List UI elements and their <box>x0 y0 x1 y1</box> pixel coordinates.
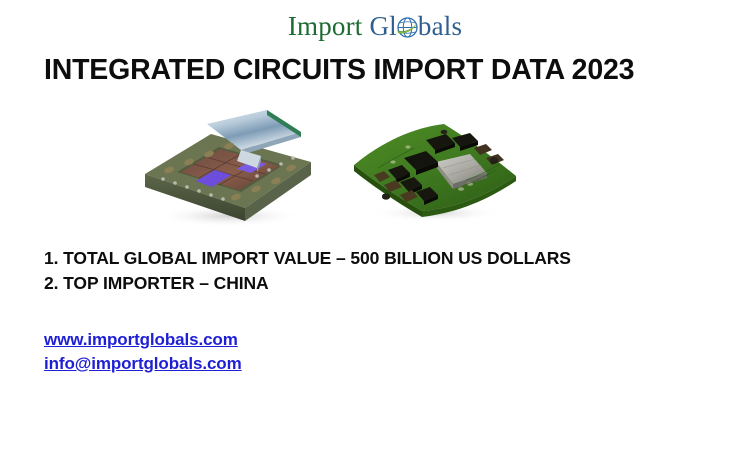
integrated-circuit-package-image <box>133 108 323 230</box>
brand-logo: Import Gl bals <box>0 13 750 40</box>
website-link[interactable]: www.importglobals.com <box>44 328 242 352</box>
brand-logo-word-suffix: bals <box>418 11 462 41</box>
printed-circuit-board-image <box>348 118 523 223</box>
slide-canvas: Import Gl bals INTEGRATED CIRCUITS IMPOR… <box>0 0 750 450</box>
page-title: INTEGRATED CIRCUITS IMPORT DATA 2023 <box>44 54 634 87</box>
contact-links: www.importglobals.com info@importglobals… <box>44 328 242 376</box>
key-facts-list: 1. TOTAL GLOBAL IMPORT VALUE – 500 BILLI… <box>44 246 571 296</box>
globe-icon <box>397 17 418 38</box>
email-link[interactable]: info@importglobals.com <box>44 352 242 376</box>
brand-logo-word-prefix: Gl <box>369 11 396 41</box>
figure-row <box>0 100 750 230</box>
key-fact-item: 1. TOTAL GLOBAL IMPORT VALUE – 500 BILLI… <box>44 246 571 271</box>
brand-logo-text: Import Gl bals <box>288 13 462 40</box>
key-fact-item: 2. TOP IMPORTER – CHINA <box>44 271 571 296</box>
brand-logo-word-import: Import <box>288 11 363 41</box>
